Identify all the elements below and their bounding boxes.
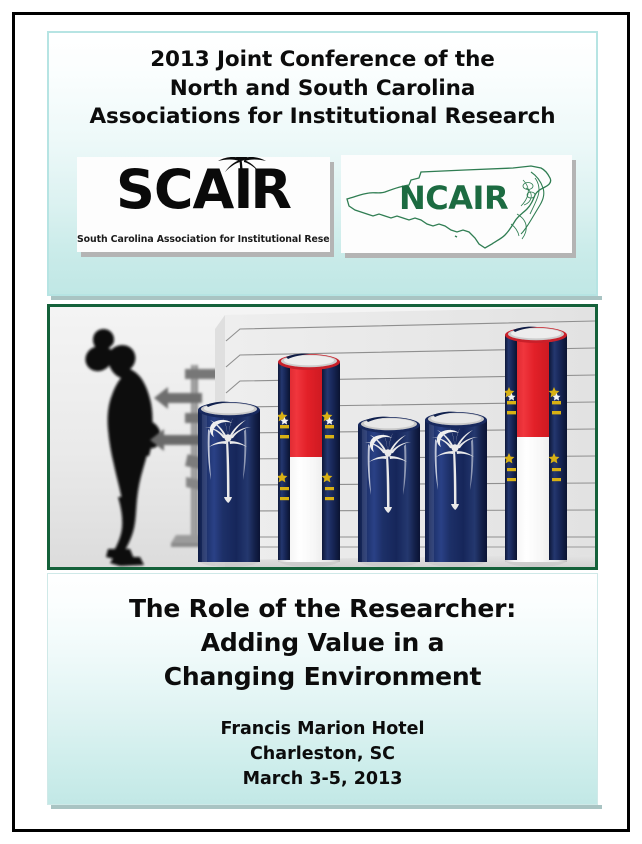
- logo-row: SCAI: [49, 157, 596, 267]
- conference-dates: March 3-5, 2013: [48, 767, 597, 792]
- cylinder-bar-chart: [198, 307, 595, 567]
- scair-wordmark-i-letter: I: [233, 158, 252, 221]
- conference-title: 2013 Joint Conference of the North and S…: [49, 46, 596, 132]
- chart-bar-5-north-carolina: [504, 327, 567, 567]
- chart-bar-4-south-carolina: [425, 412, 487, 567]
- chart-bar-3-south-carolina: [358, 417, 420, 567]
- theme-line-3: Changing Environment: [48, 660, 597, 694]
- scair-tagline: South Carolina Association for Instituti…: [77, 234, 330, 245]
- chart-bar-2-north-carolina: [277, 354, 340, 567]
- scair-wordmark-before: SCA: [116, 158, 233, 221]
- poster-page: 2013 Joint Conference of the North and S…: [12, 12, 630, 832]
- chart-bar-1-south-carolina: [198, 402, 260, 567]
- scair-wordmark-after: R: [250, 158, 291, 221]
- ncair-logo: NCAIR: [341, 155, 572, 253]
- venue-and-date-block: Francis Marion Hotel Charleston, SC Marc…: [48, 717, 597, 792]
- ncair-wordmark: NCAIR: [399, 179, 508, 217]
- conference-title-line-1: 2013 Joint Conference of the: [49, 46, 596, 75]
- conference-cover-illustration: [50, 307, 595, 567]
- conference-title-line-2: North and South Carolina: [49, 75, 596, 104]
- venue-city: Charleston, SC: [48, 742, 597, 767]
- footer-panel: The Role of the Researcher: Adding Value…: [47, 573, 598, 805]
- venue-name: Francis Marion Hotel: [48, 717, 597, 742]
- scair-logo: SCAI: [77, 157, 330, 252]
- conference-theme-title: The Role of the Researcher: Adding Value…: [48, 592, 597, 693]
- scair-wordmark-i: I: [233, 163, 250, 217]
- header-panel: 2013 Joint Conference of the North and S…: [47, 31, 598, 296]
- image-panel: [47, 304, 598, 570]
- theme-line-2: Adding Value in a: [48, 626, 597, 660]
- theme-line-1: The Role of the Researcher:: [48, 592, 597, 626]
- header-panel-shadow: [51, 296, 602, 300]
- conference-title-line-3: Associations for Institutional Research: [49, 103, 596, 132]
- scair-wordmark: SCAI: [77, 163, 330, 217]
- footer-panel-shadow: [51, 805, 602, 809]
